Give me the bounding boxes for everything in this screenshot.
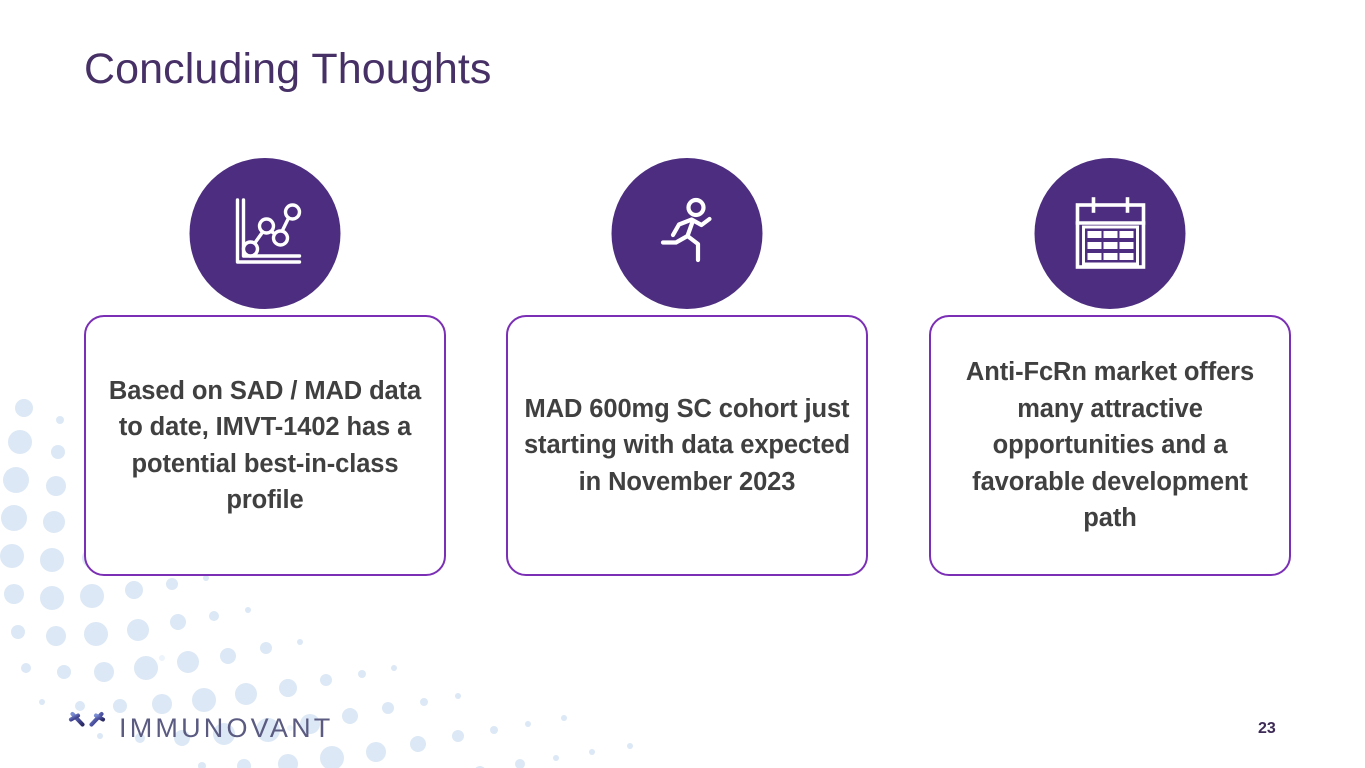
fact-box-3: Anti-FcRn market offers many attractive … bbox=[929, 315, 1291, 576]
columns-container: Based on SAD / MAD data to date, IMVT-14… bbox=[0, 158, 1365, 578]
icon-circle-1 bbox=[190, 158, 341, 309]
fact-box-1: Based on SAD / MAD data to date, IMVT-14… bbox=[84, 315, 446, 576]
antibody-logo-icon bbox=[66, 707, 108, 749]
line-chart-icon bbox=[223, 192, 307, 276]
page-number: 23 bbox=[1258, 720, 1276, 738]
icon-circle-3 bbox=[1035, 158, 1186, 309]
running-person-icon bbox=[647, 194, 727, 274]
slide-canvas: Concluding Thoughts bbox=[0, 0, 1365, 768]
column-2: MAD 600mg SC cohort just starting with d… bbox=[506, 158, 868, 578]
fact-box-2: MAD 600mg SC cohort just starting with d… bbox=[506, 315, 868, 576]
icon-circle-2 bbox=[612, 158, 763, 309]
fact-text-3: Anti-FcRn market offers many attractive … bbox=[945, 354, 1275, 537]
fact-text-2: MAD 600mg SC cohort just starting with d… bbox=[522, 391, 852, 501]
brand-logo: IMMUNOVANT bbox=[66, 707, 334, 749]
logo-wordmark: IMMUNOVANT bbox=[119, 713, 334, 743]
column-3: Anti-FcRn market offers many attractive … bbox=[929, 158, 1291, 578]
column-1: Based on SAD / MAD data to date, IMVT-14… bbox=[84, 158, 446, 578]
fact-text-1: Based on SAD / MAD data to date, IMVT-14… bbox=[100, 373, 430, 519]
calendar-icon bbox=[1069, 193, 1151, 275]
page-title: Concluding Thoughts bbox=[84, 42, 492, 96]
